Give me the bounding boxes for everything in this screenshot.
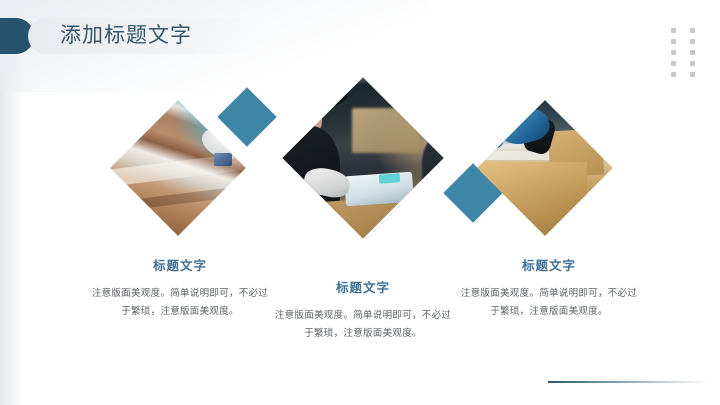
caption-block-right: 标题文字 注意版面美观度。简单说明即可，不必过于繁琐，注意版面美观度。 bbox=[459, 255, 639, 320]
second-worker-shape bbox=[422, 131, 443, 213]
dot bbox=[690, 50, 695, 55]
scanner-screen-shape bbox=[379, 173, 400, 184]
page-title: 添加标题文字 bbox=[60, 18, 192, 54]
background-box-shape bbox=[352, 108, 420, 154]
handheld-device-shape bbox=[214, 153, 231, 166]
slide-title-bar: 添加标题文字 bbox=[0, 18, 270, 54]
dot bbox=[690, 39, 695, 44]
dot bbox=[671, 50, 676, 55]
caption-block-left: 标题文字 注意版面美观度。简单说明即可，不必过于繁琐，注意版面美观度。 bbox=[90, 255, 270, 320]
blue-glove-shape bbox=[477, 121, 506, 151]
dot bbox=[671, 39, 676, 44]
card-body-text: 注意版面美观度。简单说明即可，不必过于繁琐，注意版面美观度。 bbox=[273, 307, 453, 342]
bottom-accent-line bbox=[548, 381, 708, 383]
dot bbox=[690, 61, 695, 66]
photo-diamond-center[interactable] bbox=[282, 77, 443, 238]
dot bbox=[671, 61, 676, 66]
blue-gloves-handling-box-photo bbox=[477, 100, 613, 236]
card-body-text: 注意版面美观度。简单说明即可，不必过于繁琐，注意版面美观度。 bbox=[90, 285, 270, 320]
dot-grid-decoration bbox=[671, 28, 709, 83]
card-body-text: 注意版面美观度。简单说明即可，不必过于繁琐，注意版面美观度。 bbox=[459, 285, 639, 320]
presentation-slide: 添加标题文字 bbox=[0, 0, 720, 405]
dot bbox=[671, 28, 676, 33]
dot bbox=[690, 28, 695, 33]
accent-diamond-left bbox=[217, 87, 276, 146]
caption-block-center: 标题文字 注意版面美观度。简单说明即可，不必过于繁琐，注意版面美观度。 bbox=[273, 277, 453, 342]
card-heading: 标题文字 bbox=[90, 255, 270, 274]
dot bbox=[671, 72, 676, 77]
dot bbox=[690, 72, 695, 77]
card-heading: 标题文字 bbox=[273, 277, 453, 296]
white-glove-shape bbox=[301, 165, 351, 201]
worker-scanning-package-photo bbox=[282, 77, 443, 238]
card-heading: 标题文字 bbox=[459, 255, 639, 274]
photo-diamond-right[interactable] bbox=[477, 100, 613, 236]
